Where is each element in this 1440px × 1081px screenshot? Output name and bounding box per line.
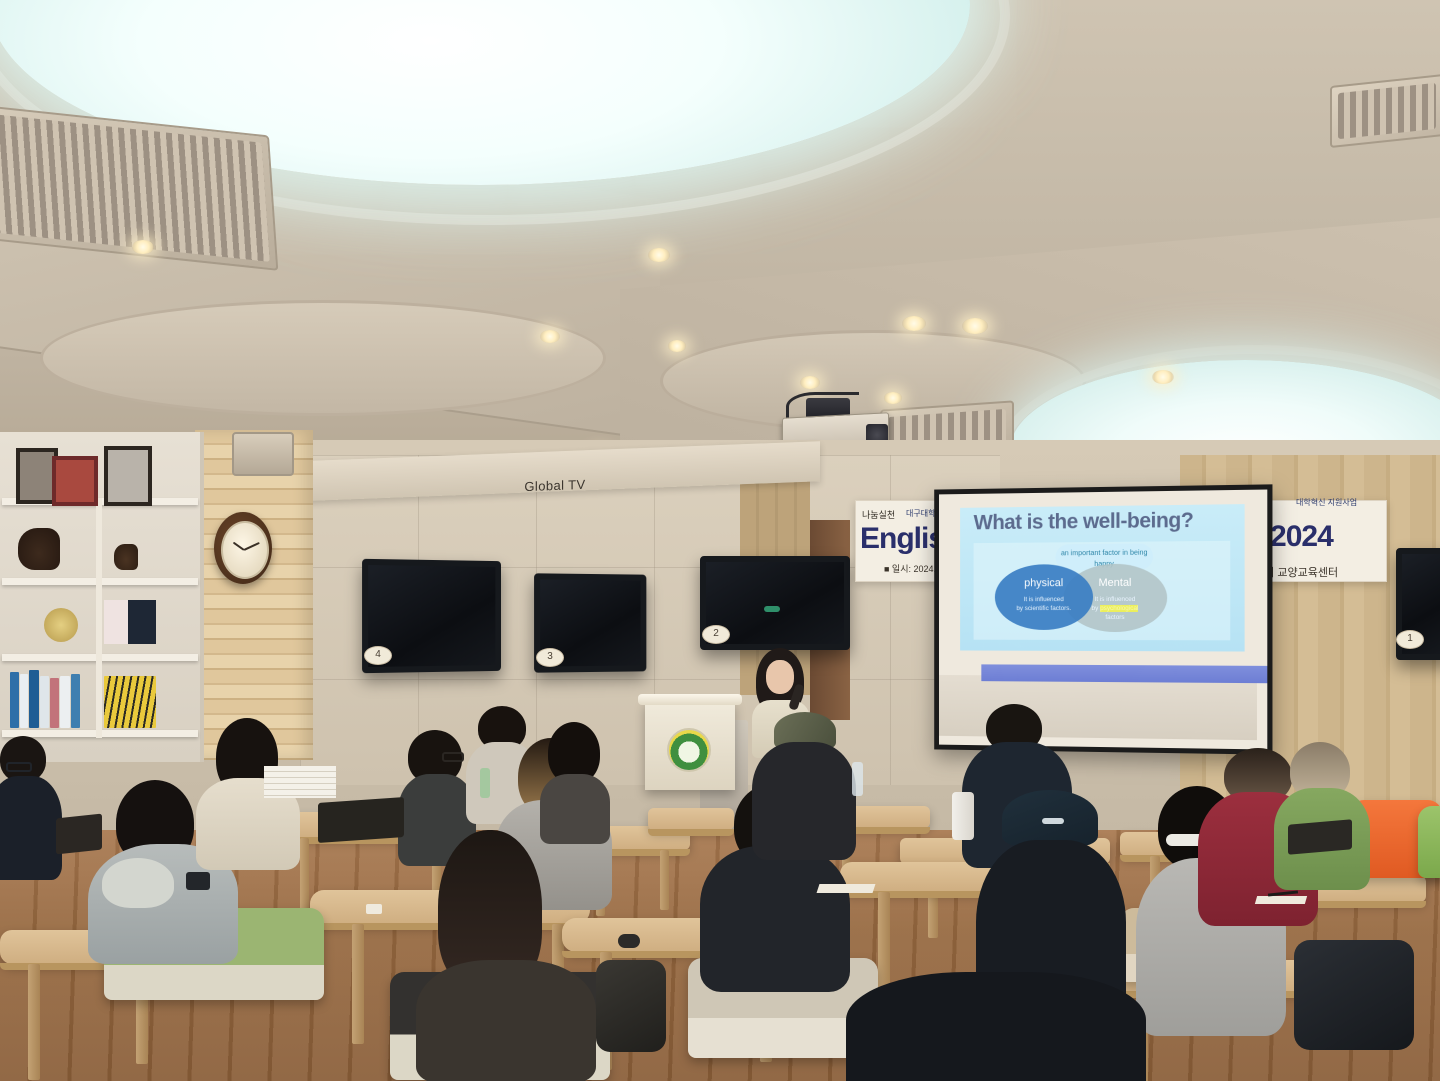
- table-leg: [352, 924, 364, 1044]
- laptop-device: [1288, 819, 1352, 855]
- book: [50, 678, 59, 728]
- backpack: [596, 960, 666, 1052]
- downlight: [962, 318, 988, 334]
- computer-mouse: [618, 934, 640, 948]
- backpack: [1294, 940, 1414, 1050]
- framed-picture: [104, 446, 152, 506]
- table-leg: [660, 850, 669, 910]
- slide-diagram: an important factor in being happy Menta…: [974, 541, 1231, 640]
- downlight: [540, 330, 560, 343]
- tablet-device: [56, 814, 102, 855]
- laptop-device: [318, 797, 404, 843]
- person-body: [700, 846, 850, 992]
- decorative-plate: [44, 608, 78, 642]
- tv-number-badge-2: 2: [702, 625, 730, 644]
- book: [29, 670, 39, 728]
- person-body: [846, 972, 1146, 1081]
- downlight: [1152, 370, 1174, 384]
- clock-minute-hand: [244, 542, 260, 551]
- stone-accent-wall: [195, 430, 313, 760]
- horse-figurine: [18, 528, 60, 570]
- downlight: [902, 316, 926, 331]
- person-body: [416, 960, 596, 1081]
- slide-title: What is the well-being?: [974, 508, 1243, 535]
- book: [40, 676, 49, 728]
- wall-speaker: [232, 432, 294, 476]
- banner-title-left: Englis: [860, 522, 944, 556]
- ceiling-ellipse-left: [40, 300, 606, 416]
- downlight: [800, 376, 820, 389]
- smartphone-icon: [186, 872, 210, 890]
- book: [20, 674, 28, 728]
- podium-top: [638, 694, 742, 705]
- wall-clock: [214, 512, 272, 584]
- water-bottle: [480, 768, 490, 798]
- banner-date-line: ■ 일시: 2024.: [884, 562, 936, 575]
- paper-sheet: [1255, 896, 1307, 904]
- person-body: [0, 776, 62, 880]
- book: [71, 674, 80, 728]
- downlight: [648, 248, 670, 262]
- eyeglasses-icon: [6, 762, 32, 772]
- clock-face: [221, 521, 269, 579]
- venn-circle-physical: physical It is influenced by scientific …: [995, 564, 1093, 630]
- venn-label-physical: physical: [995, 577, 1093, 589]
- ceiling-ac-unit-top-right: [1330, 74, 1440, 148]
- book: [104, 676, 156, 728]
- audience-person: [752, 712, 856, 852]
- podium: [645, 700, 735, 790]
- downlight: [668, 340, 686, 352]
- tv-number-badge-1: 1: [1396, 630, 1424, 649]
- audience-person: [416, 830, 596, 1080]
- downlight: [132, 240, 154, 254]
- ac-grill: [0, 112, 270, 262]
- slide-footer-band: [981, 664, 1267, 683]
- tv-logo-icon: [764, 606, 780, 612]
- audience-person: [1274, 742, 1370, 878]
- audience-person: [846, 972, 1146, 1081]
- venn-sub-physical-2: by scientific factors.: [995, 605, 1093, 613]
- venn-sub-mental-highlight: psychological: [1100, 605, 1138, 612]
- shelf-books-dark: [104, 600, 156, 644]
- paper-sheet: [817, 884, 876, 893]
- horse-figurine: [114, 544, 138, 570]
- shelf-divider: [96, 498, 102, 738]
- eraser: [366, 904, 382, 914]
- tv-number-badge-3: 3: [536, 648, 564, 667]
- ac-grill: [1338, 83, 1436, 139]
- cap-logo-icon: [1042, 818, 1064, 824]
- university-crest-icon: [667, 728, 711, 772]
- table-leg: [28, 964, 40, 1080]
- table-leg: [300, 838, 309, 910]
- framed-picture: [52, 456, 98, 506]
- hoodie-hood: [102, 858, 174, 908]
- banner-brush-text: 나눔실천: [862, 508, 895, 521]
- lecture-hall-photo: Global TV 4 3: [0, 0, 1440, 1081]
- audience-person: [0, 736, 62, 876]
- book: [10, 672, 19, 728]
- bookshelf: [0, 432, 204, 762]
- audience-person: [540, 722, 610, 822]
- person-body: [752, 742, 856, 860]
- water-bottle: [852, 762, 863, 796]
- banner-logo-right: 대학혁신 지원사업: [1296, 497, 1357, 508]
- downlight: [884, 392, 902, 404]
- tv-number-badge-4: 4: [364, 646, 392, 665]
- book: [60, 676, 70, 728]
- venn-sub-physical-1: It is influenced: [995, 596, 1093, 604]
- tumbler-cup: [952, 792, 974, 840]
- eyeglasses-icon: [442, 752, 464, 762]
- accent-chair-green: [1418, 806, 1440, 878]
- presentation-slide: What is the well-being? an important fac…: [960, 504, 1245, 651]
- presenter-face: [766, 660, 794, 694]
- paper-stack: [264, 766, 336, 798]
